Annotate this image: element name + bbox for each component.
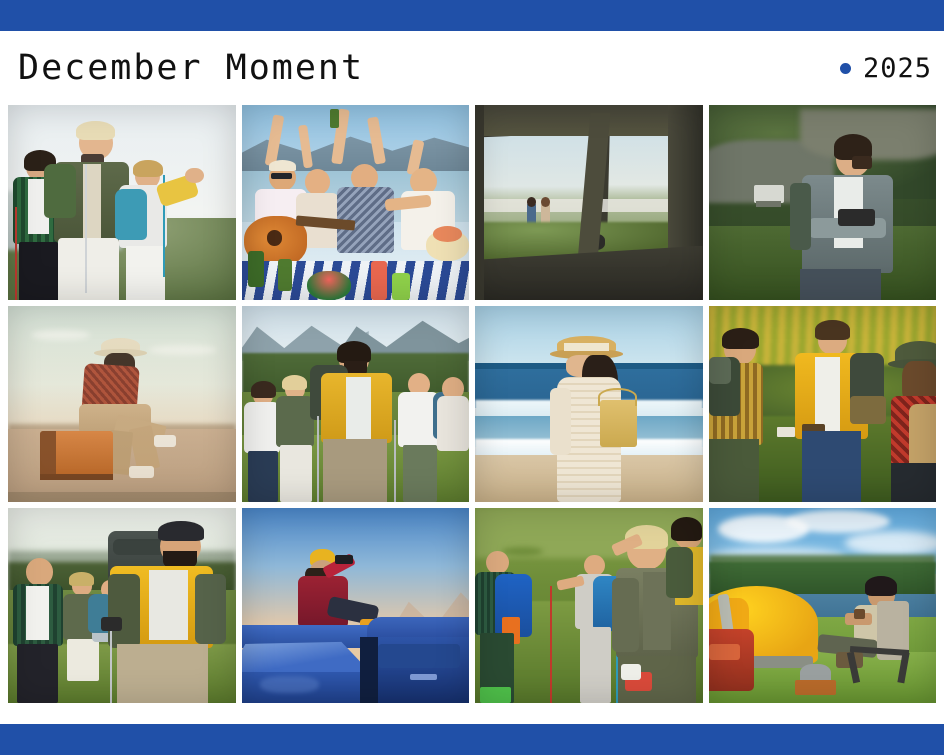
photo-man-binoculars-valley [709, 105, 937, 300]
photo-cell[interactable] [242, 306, 470, 501]
bullet-dot-icon [840, 63, 851, 74]
photo-cell[interactable] [709, 105, 937, 300]
page-header: December Moment 2025 [0, 31, 944, 105]
photo-woman-beach-walk [475, 306, 703, 501]
photo-hikers-green-meadow [242, 306, 470, 501]
photo-grid [8, 105, 936, 703]
photo-cell[interactable] [475, 306, 703, 501]
photo-cell[interactable] [242, 105, 470, 300]
top-accent-bar [0, 0, 944, 31]
photo-cell[interactable] [8, 105, 236, 300]
bottom-accent-bar [0, 724, 944, 755]
page-title: December Moment [18, 48, 364, 88]
photo-cell[interactable] [475, 508, 703, 703]
photo-cell[interactable] [8, 306, 236, 501]
calendar-page: December Moment 2025 [0, 0, 944, 755]
photo-beach-party-guitar [242, 105, 470, 300]
year-label: 2025 [863, 53, 932, 84]
photo-cell[interactable] [475, 105, 703, 300]
photo-cell[interactable] [709, 306, 937, 501]
photo-hiker-large-backpack [8, 508, 236, 703]
photo-cell[interactable] [709, 508, 937, 703]
photo-cell[interactable] [242, 508, 470, 703]
photo-lake-camping-yellow-tent [709, 508, 937, 703]
photo-van-window-beach-couple [475, 105, 703, 300]
year-badge: 2025 [840, 53, 932, 84]
photo-autumn-hillside-hikers [709, 306, 937, 501]
photo-hikers-grass-field [475, 508, 703, 703]
photo-hikers-mountain-mist [8, 105, 236, 300]
photo-woman-suitcase-desert [8, 306, 236, 501]
photo-car-roof-sunset-photo [242, 508, 470, 703]
photo-cell[interactable] [8, 508, 236, 703]
